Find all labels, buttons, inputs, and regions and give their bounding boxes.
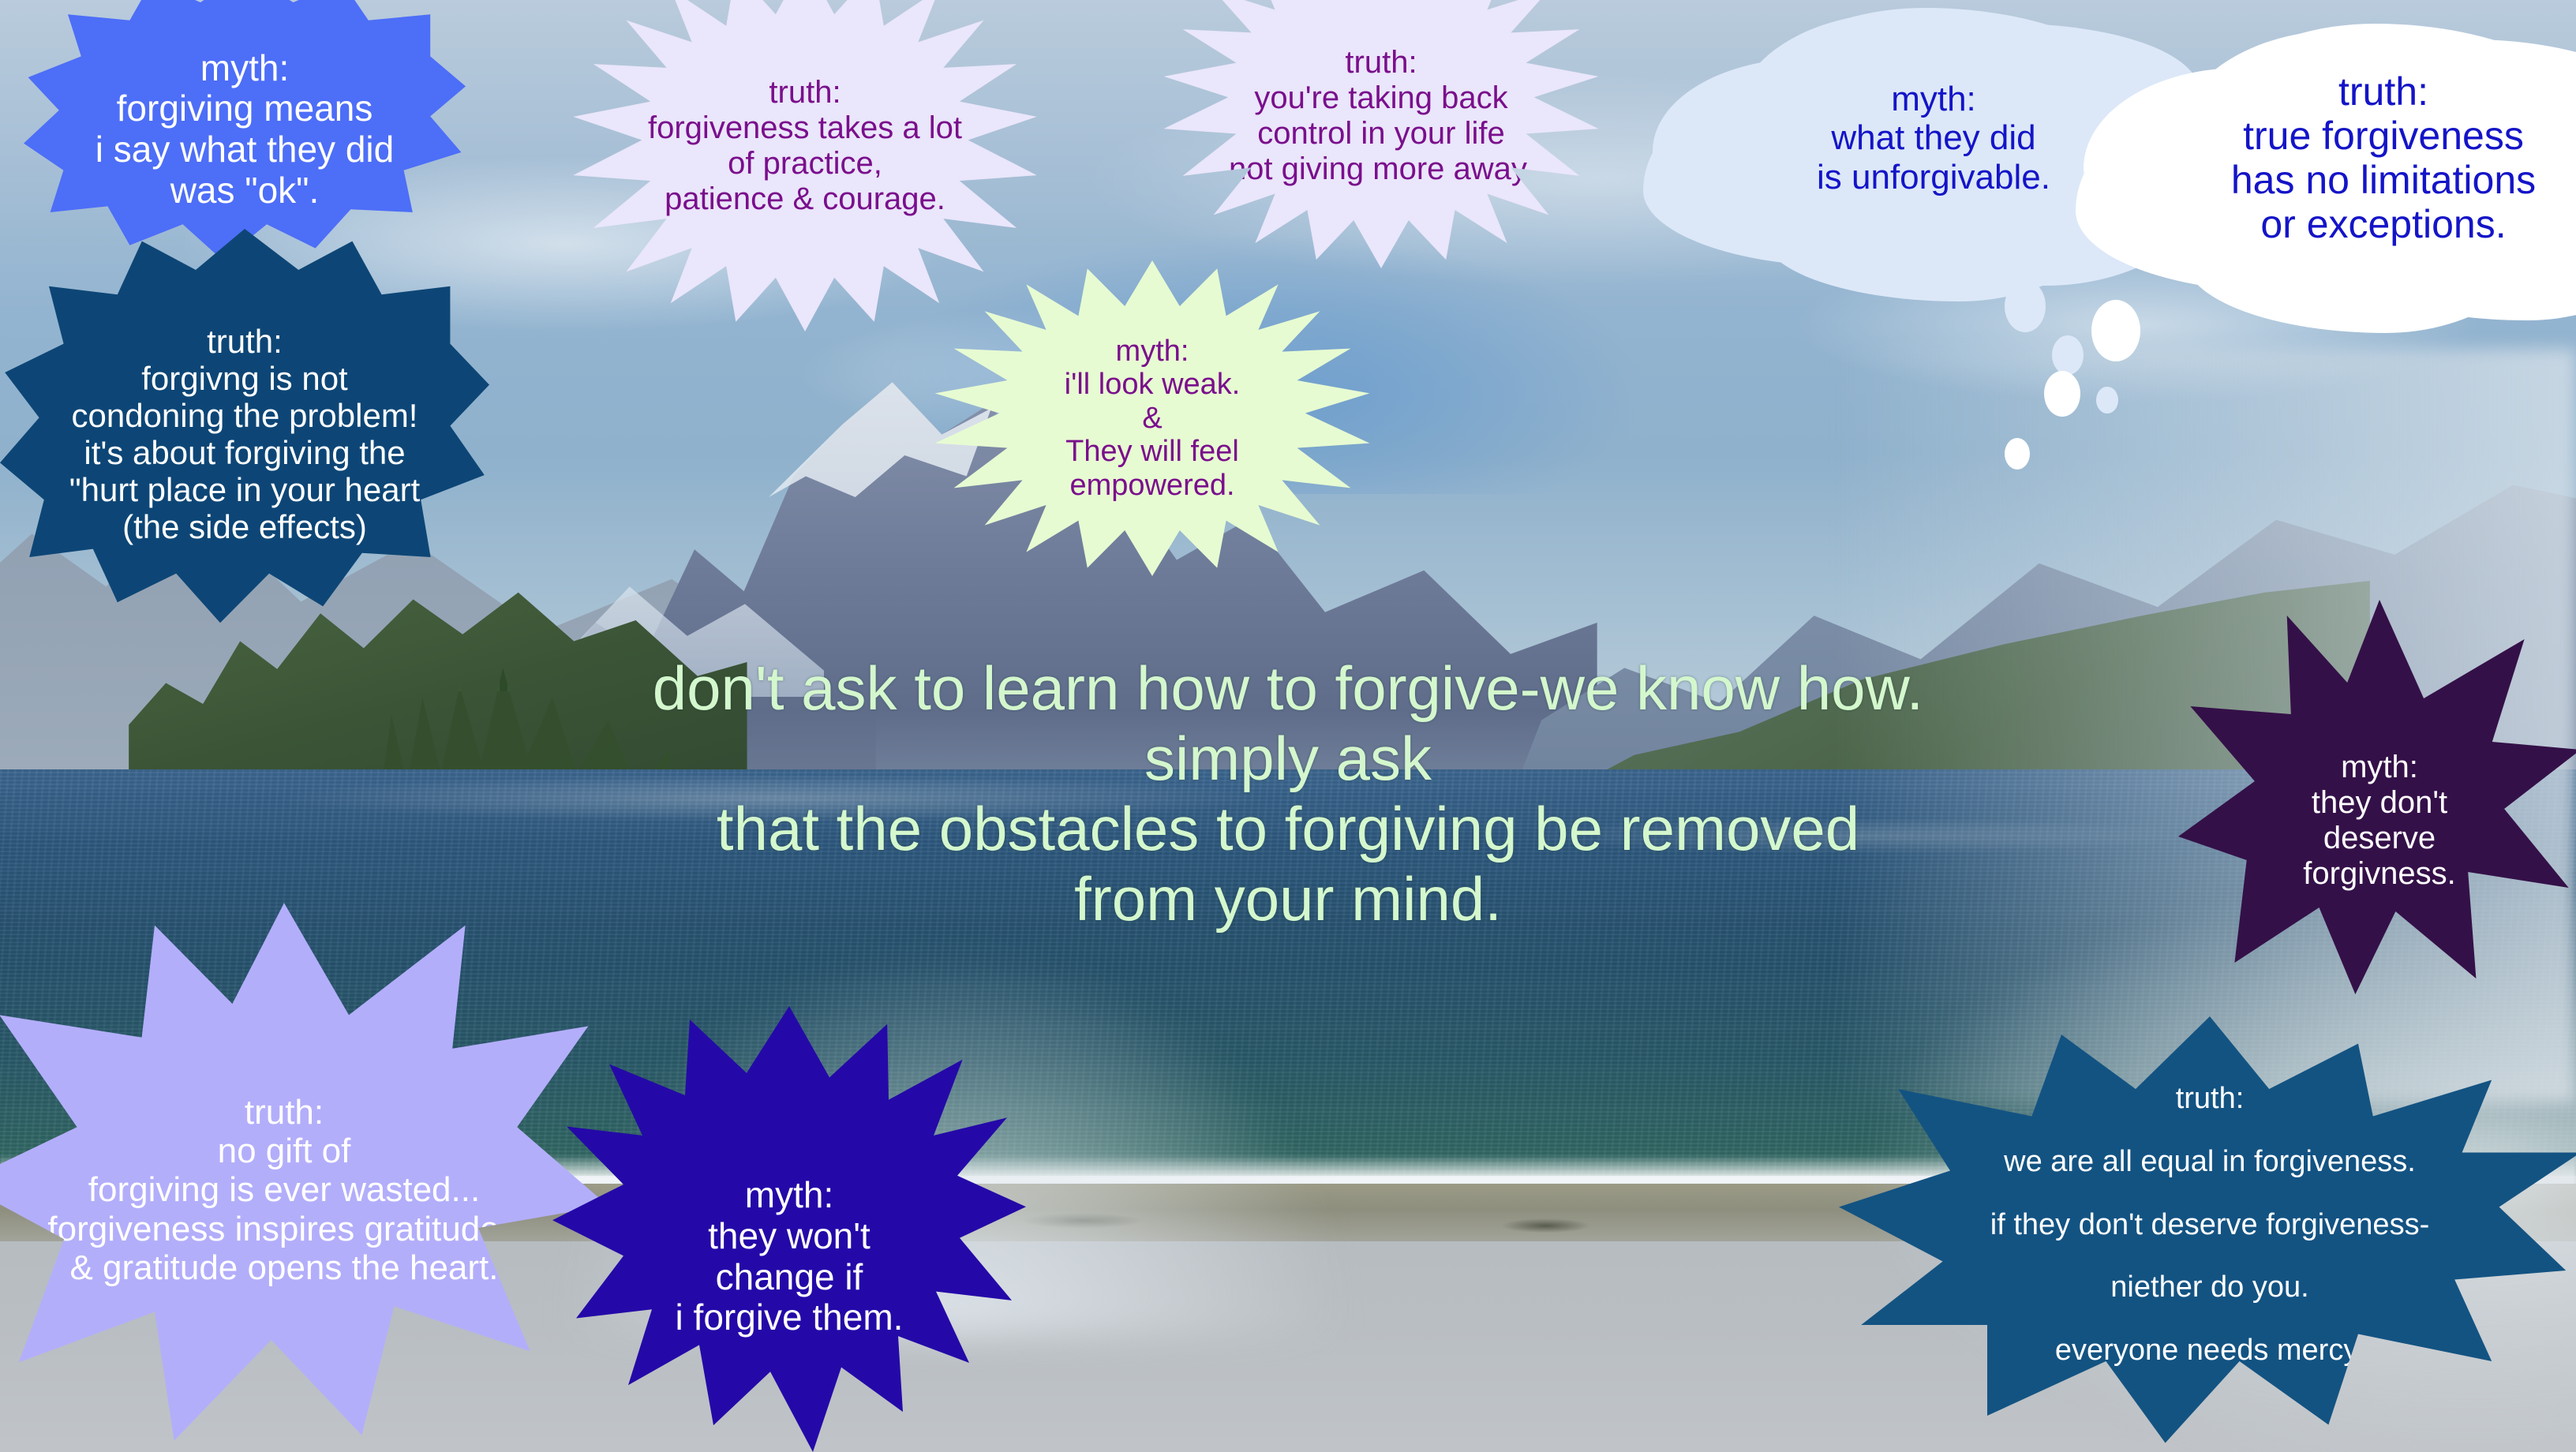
- thought-bubble-dot: [2096, 387, 2118, 414]
- callout-text: myth: they won't change if i forgive the…: [614, 1120, 964, 1338]
- callout-text: myth: they don't deserve forgivness.: [2259, 702, 2500, 891]
- callout-text: truth: you're taking back control in you…: [1201, 18, 1561, 186]
- thought-bubble-dot: [2091, 300, 2140, 361]
- poster-canvas: don't ask to learn how to forgive-we kno…: [0, 0, 2576, 1452]
- thought-bubble-dot: [2005, 280, 2046, 332]
- thought-bubble-dot: [2044, 371, 2080, 417]
- callout-text: myth: what they did is unforgivable.: [1748, 80, 2119, 196]
- thought-bubble-dot: [2005, 438, 2030, 470]
- callout-text: myth: forgiving means i say what they di…: [41, 34, 447, 211]
- thought-bubble-dot: [2052, 335, 2084, 375]
- main-quote-text: don't ask to learn how to forgive-we kno…: [459, 653, 2117, 934]
- callout-text: truth: forgiveness takes a lot of practi…: [618, 75, 992, 216]
- callout-text: myth: i'll look weak. & They will feel e…: [977, 335, 1327, 503]
- callout-text: truth: forgivng is not condoning the pro…: [15, 323, 475, 545]
- callout-text: truth: true forgiveness has no limitatio…: [2189, 69, 2576, 246]
- callout-text: truth: we are all equal in forgiveness. …: [1920, 1083, 2499, 1367]
